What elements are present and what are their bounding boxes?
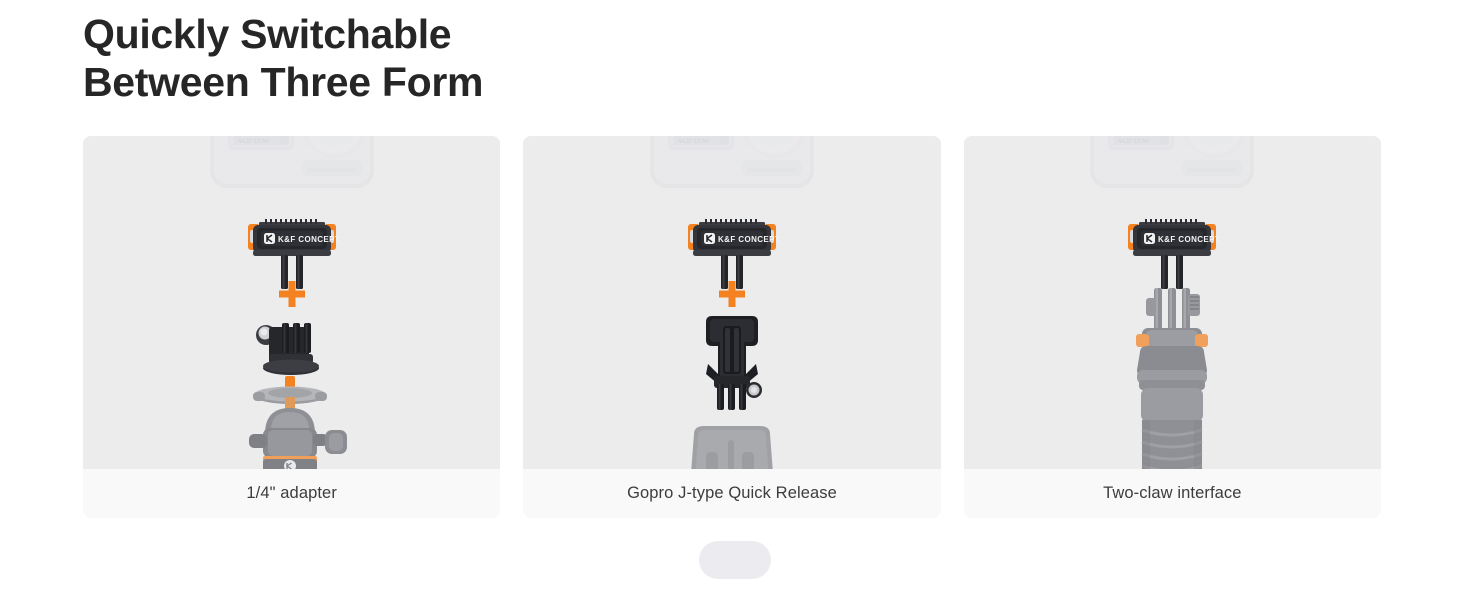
card-image-gopro-j-type: 4K30 15'/W bbox=[523, 136, 940, 469]
product-feature-page: Quickly Switchable Between Three Form bbox=[0, 0, 1464, 600]
mount-base-plate bbox=[680, 424, 784, 469]
clamp-brand-label: K&F CONCEPT bbox=[1158, 235, 1220, 244]
form-options-grid: 4K30 15'/W bbox=[83, 136, 1381, 518]
card-quarter-inch-adapter[interactable]: 4K30 15'/W bbox=[83, 136, 500, 518]
page-title-line-1: Quickly Switchable bbox=[83, 10, 783, 58]
camera-screen-resolution: 4K30 15'/W bbox=[238, 139, 269, 145]
card-image-two-claw-interface: 4K30 15'/W bbox=[964, 136, 1381, 469]
action-camera-ghost-icon: 4K30 15'/W bbox=[1086, 136, 1258, 197]
card-caption-gopro-j-type: Gopro J-type Quick Release bbox=[523, 469, 940, 518]
tripod-ball-head bbox=[231, 376, 353, 469]
clamp-brand-label: K&F CONCEPT bbox=[278, 235, 340, 244]
card-image-quarter-inch-adapter: 4K30 15'/W bbox=[83, 136, 500, 469]
action-camera-ghost-icon: 4K30 15'/W bbox=[206, 136, 378, 197]
card-gopro-j-type-quick-release[interactable]: 4K30 15'/W bbox=[523, 136, 940, 518]
plus-connector-icon bbox=[718, 280, 746, 313]
product-stack-two-claw-interface: 4K30 15'/W bbox=[1042, 136, 1302, 469]
release-button-right bbox=[1195, 334, 1208, 347]
card-caption-two-claw-interface: Two-claw interface bbox=[964, 469, 1381, 518]
card-two-claw-interface[interactable]: 4K30 15'/W bbox=[964, 136, 1381, 518]
plus-connector-icon bbox=[278, 280, 306, 313]
action-camera-ghost-icon: 4K30 15'/W bbox=[646, 136, 818, 197]
release-button-left bbox=[1136, 334, 1149, 347]
product-stack-quarter-inch-adapter: 4K30 15'/W bbox=[162, 136, 422, 469]
clamp-brand-label: K&F CONCEPT bbox=[718, 235, 780, 244]
card-caption-quarter-inch-adapter: 1/4" adapter bbox=[83, 469, 500, 518]
gopro-tri-prong-adapter bbox=[249, 318, 335, 385]
j-type-quick-release-buckle bbox=[684, 314, 780, 427]
bottom-pill-placeholder[interactable] bbox=[699, 541, 771, 579]
grip-handle-two-claw bbox=[1112, 284, 1232, 469]
page-title: Quickly Switchable Between Three Form bbox=[83, 10, 783, 107]
svg-text:4K30 15'/W: 4K30 15'/W bbox=[1118, 139, 1149, 145]
product-stack-gopro-j-type: 4K30 15'/W bbox=[602, 136, 862, 469]
svg-text:4K30 15'/W: 4K30 15'/W bbox=[678, 139, 709, 145]
page-title-line-2: Between Three Form bbox=[83, 58, 783, 106]
